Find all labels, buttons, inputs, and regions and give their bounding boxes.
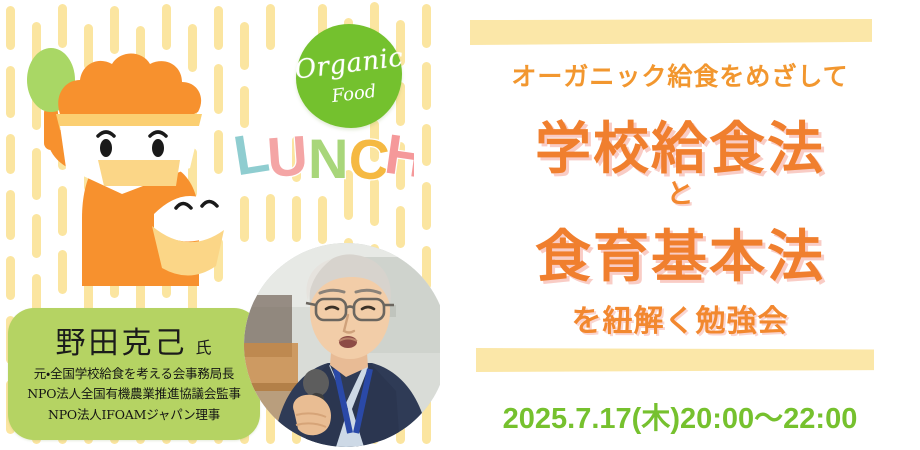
speaker-credentials-list: 元・全国学校給食を考える会事務局長 NPO法人全国有機農業推進協議会監事 NPO…: [8, 364, 260, 425]
svg-text:U: U: [265, 123, 310, 189]
tagline: を紐解く勉強会: [440, 296, 920, 340]
left-illustration-panel: Organic Food L U N C H 野田克己氏 元・全国学校給食を考え…: [0, 0, 440, 450]
subtitle: オーガニック給食をめざして: [440, 57, 920, 93]
speaker-name-plate: 野田克己氏 元・全国学校給食を考える会事務局長 NPO法人全国有機農業推進協議会…: [8, 308, 260, 440]
badge-line-food: Food: [330, 83, 377, 106]
top-ribbon-decoration: [470, 19, 872, 45]
headline-secondary: 食育基本法: [440, 212, 920, 293]
event-datetime: 2025.7.17(木)20:00〜22:00: [440, 395, 920, 437]
badge-text-group: Organic Food: [296, 24, 402, 128]
badge-line-organic: Organic: [293, 44, 404, 83]
organic-food-badge: Organic Food: [296, 24, 402, 128]
speaker-photo: [244, 243, 440, 447]
speaker-name-suffix: 氏: [195, 340, 212, 357]
credential-line: NPO法人IFOAMジャパン理事: [8, 405, 260, 425]
bottom-ribbon-decoration: [476, 348, 874, 372]
headline-connector: と: [440, 172, 920, 211]
seminar-banner: Organic Food L U N C H 野田克己氏 元・全国学校給食を考え…: [0, 0, 920, 450]
chef-mascot-illustration: [0, 18, 244, 286]
lunch-wordmark: L U N C H: [234, 118, 414, 198]
right-text-panel: オーガニック給食をめざして 学校給食法 と 食育基本法 を紐解く勉強会 2025…: [440, 0, 920, 450]
speaker-name: 野田克己: [55, 327, 187, 360]
speaker-name-row: 野田克己氏: [8, 318, 260, 362]
svg-text:N: N: [308, 127, 348, 190]
credential-line: 元・全国学校給食を考える会事務局長: [8, 364, 260, 384]
credential-line: NPO法人全国有機農業推進協議会監事: [8, 384, 260, 404]
